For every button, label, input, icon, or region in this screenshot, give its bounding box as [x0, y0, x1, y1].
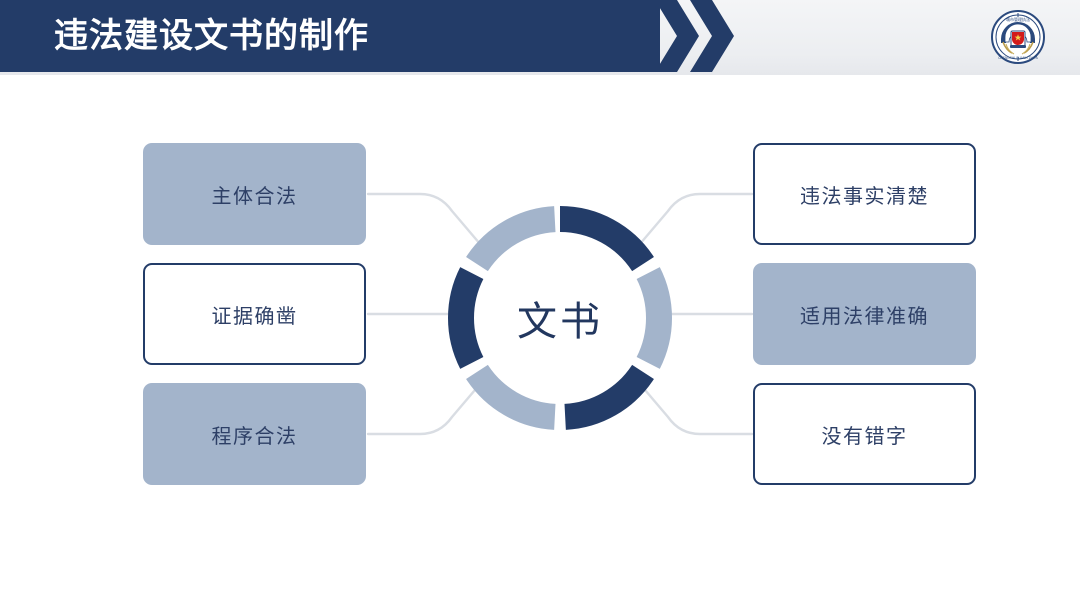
- page-title: 违法建设文书的制作: [54, 11, 369, 61]
- chevron-right-icon-2: [690, 0, 734, 72]
- diagram-canvas: 主体合法 证据确凿 程序合法 违法事实清楚 适用法律准确 没有错字 文书: [0, 75, 1080, 606]
- center-label: 文书: [442, 200, 678, 436]
- slide: 违法建设文书的制作 城市管理执法 CHENGSHI GUANLI ZHIFA: [0, 0, 1080, 606]
- svg-text:CHENGSHI GUANLI ZHIFA: CHENGSHI GUANLI ZHIFA: [998, 56, 1038, 60]
- node-left-3[interactable]: 程序合法: [143, 383, 366, 485]
- node-right-3[interactable]: 没有错字: [753, 383, 976, 485]
- node-right-1[interactable]: 违法事实清楚: [753, 143, 976, 245]
- node-left-1[interactable]: 主体合法: [143, 143, 366, 245]
- police-emblem-icon: 城市管理执法 CHENGSHI GUANLI ZHIFA: [990, 9, 1046, 65]
- svg-text:城市管理执法: 城市管理执法: [1006, 16, 1030, 22]
- node-right-2[interactable]: 适用法律准确: [753, 263, 976, 365]
- node-left-2[interactable]: 证据确凿: [143, 263, 366, 365]
